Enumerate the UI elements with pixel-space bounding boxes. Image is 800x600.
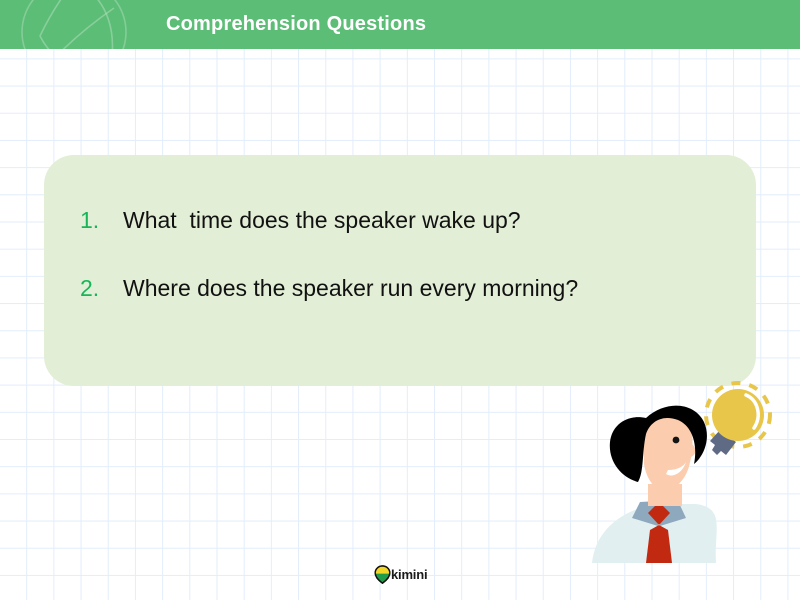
kimini-logo-text: kimini bbox=[391, 565, 427, 584]
kimini-balloon-logo-icon bbox=[374, 565, 391, 584]
question-text: What time does the speaker wake up? bbox=[123, 205, 521, 235]
list-item: 2. Where does the speaker run every morn… bbox=[80, 273, 730, 303]
question-text: Where does the speaker run every morning… bbox=[123, 273, 578, 303]
header-bar: Comprehension Questions bbox=[0, 0, 800, 49]
question-number: 2. bbox=[80, 273, 123, 303]
leaf-logo-watermark-icon bbox=[14, 0, 134, 49]
eye bbox=[673, 437, 680, 444]
page-title: Comprehension Questions bbox=[166, 0, 426, 49]
question-card: 1. What time does the speaker wake up? 2… bbox=[44, 155, 756, 386]
slide-canvas: Comprehension Questions 1. What time doe… bbox=[0, 0, 800, 600]
businessman-with-idea-lightbulb-illustration bbox=[590, 378, 800, 568]
list-item: 1. What time does the speaker wake up? bbox=[80, 205, 730, 235]
kimini-footer-logo: kimini bbox=[374, 564, 427, 584]
question-number: 1. bbox=[80, 205, 123, 235]
nose bbox=[688, 442, 696, 458]
question-list: 1. What time does the speaker wake up? 2… bbox=[80, 205, 730, 341]
lightbulb-bulb-icon bbox=[712, 389, 764, 441]
